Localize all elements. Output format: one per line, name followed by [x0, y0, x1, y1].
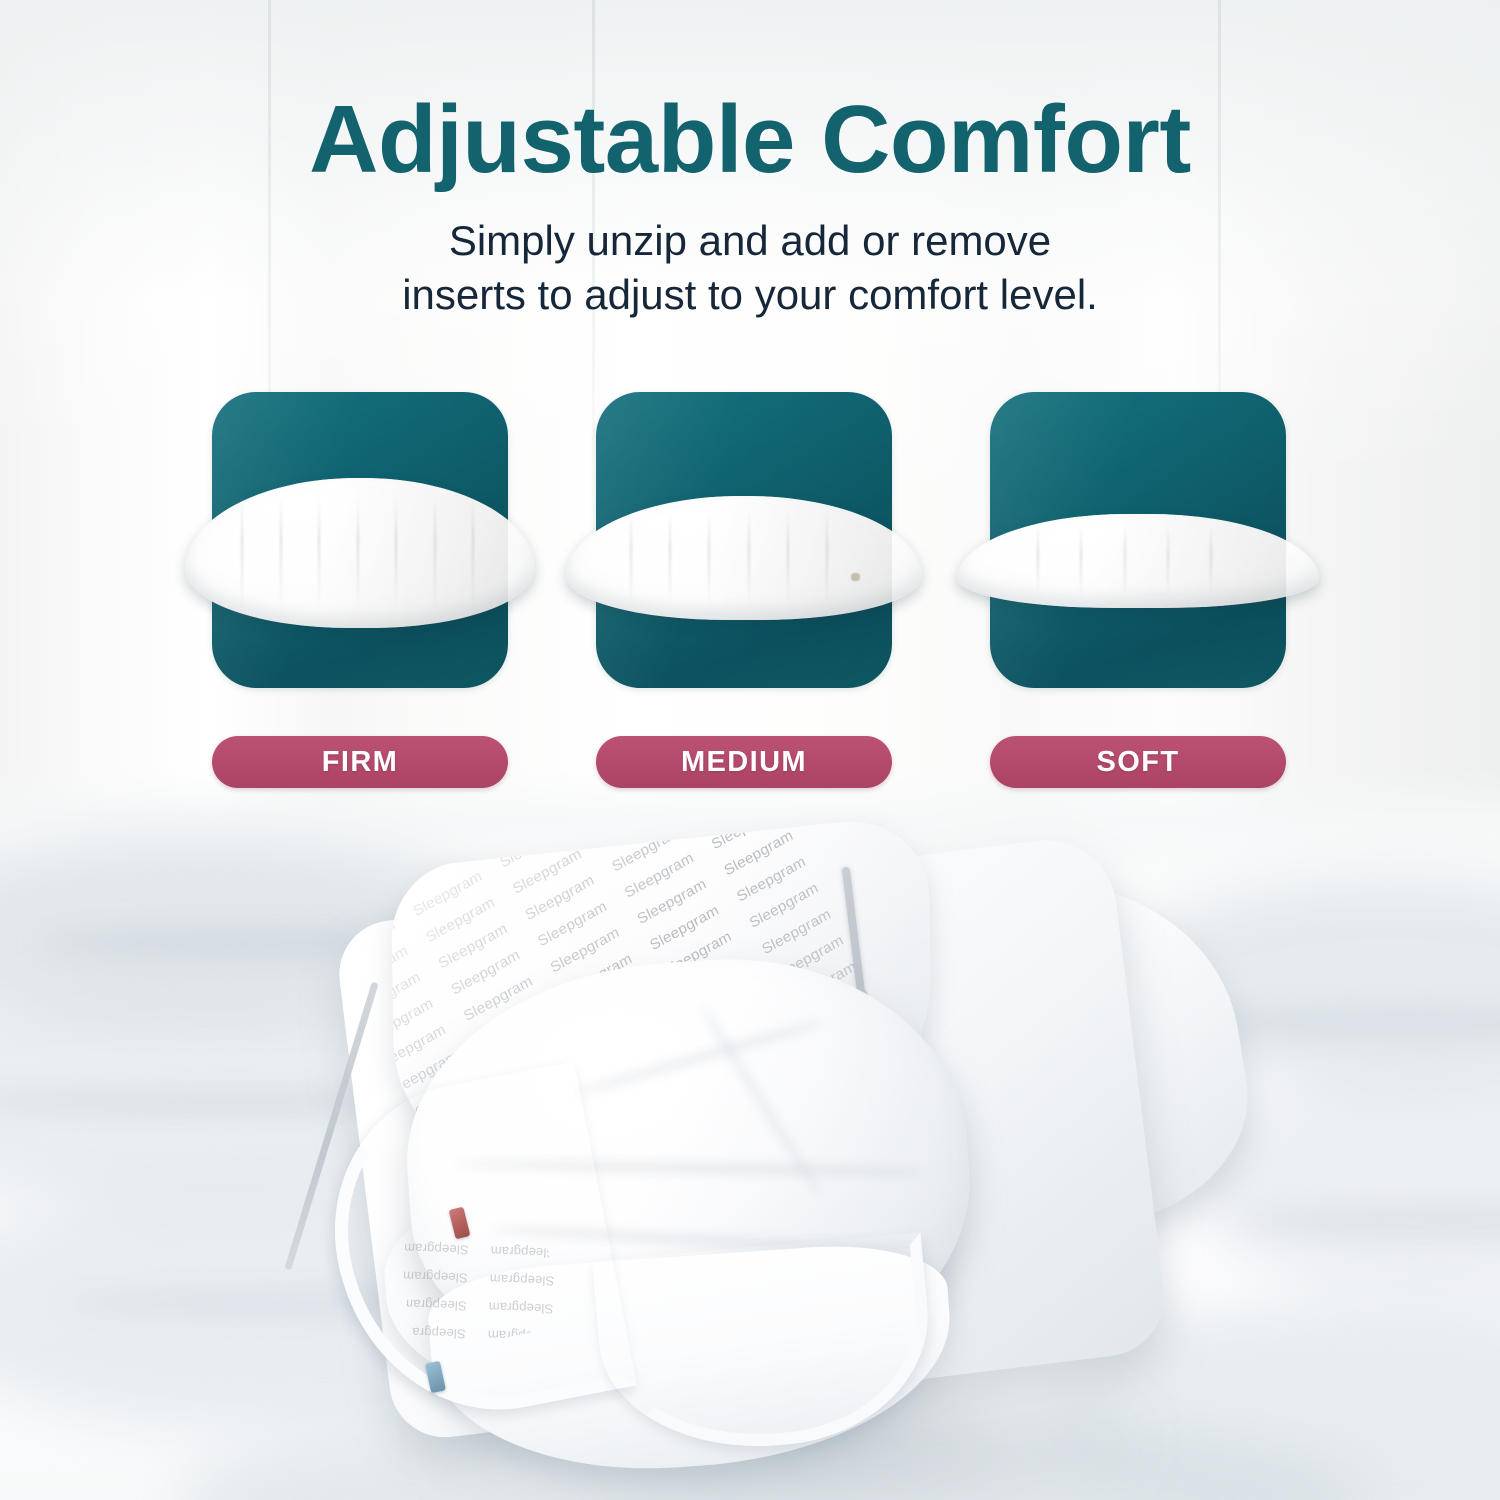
page-subtitle-line-2: inserts to adjust to your comfort level.	[0, 268, 1500, 322]
brand-text: Sleepgram	[489, 1271, 554, 1288]
brand-print-row: Sleepgram Sleepgram	[403, 1296, 553, 1316]
firmness-option-medium[interactable]: MEDIUM	[596, 392, 892, 688]
firmness-pill-soft[interactable]: SOFT	[990, 736, 1286, 788]
brand-text: Sleepgram	[391, 995, 436, 1047]
brand-text: Sleepgram	[391, 916, 398, 968]
firmness-label-soft: SOFT	[1097, 746, 1180, 779]
brand-text: Sleepgram	[497, 819, 571, 871]
brand-text: Sleepgram	[423, 894, 497, 946]
brand-text: Sleepgram	[391, 1021, 449, 1073]
brand-text: Sleepgram	[490, 1243, 555, 1260]
page-title: Adjustable Comfort	[0, 92, 1500, 188]
page-subtitle: Simply unzip and add or remove inserts t…	[0, 214, 1500, 322]
firmness-options-row: FIRM MEDIUM	[0, 392, 1500, 792]
brand-text: Sleepgram	[609, 823, 683, 875]
brand-print-row: Sleepgram Sleepgram	[404, 1268, 554, 1288]
brand-text: Sleepgram	[402, 1296, 467, 1313]
brand-text: Sleepgram	[510, 846, 584, 898]
brand-text: Sleepgram	[410, 868, 484, 920]
brand-text: Sleepgram	[391, 969, 423, 1021]
swatch-card-firm	[212, 392, 508, 688]
pillow-icon	[957, 514, 1319, 608]
brand-text: Sleepgram	[759, 906, 833, 958]
brand-text: Sleepgram	[523, 872, 597, 924]
brand-text: Sleepgram	[403, 1268, 468, 1285]
firmness-pill-medium[interactable]: MEDIUM	[596, 736, 892, 788]
swatch-card-medium	[596, 392, 892, 688]
brand-text: Sleepgram	[548, 924, 622, 976]
firmness-pill-firm[interactable]: FIRM	[212, 736, 508, 788]
pillow-icon	[185, 478, 535, 628]
swatch-card-soft	[990, 392, 1286, 688]
product-photo: Sleepgram Sleepgram Sleepgram Sleepgram …	[300, 826, 1260, 1500]
brand-text: Sleepgram	[647, 902, 721, 954]
brand-text: Sleepgram	[436, 920, 510, 972]
firmness-label-firm: FIRM	[322, 746, 398, 779]
fiber-tuft	[851, 573, 860, 581]
brand-text: Sleepgram	[404, 1240, 469, 1257]
brand-text: Sleepgram	[448, 947, 522, 999]
brand-text: Sleepgram	[488, 1299, 553, 1316]
brand-text: Sleepgram	[721, 827, 795, 879]
brand-text: Sleepgram	[535, 898, 609, 950]
firmness-option-firm[interactable]: FIRM	[212, 392, 508, 688]
brand-text: Sleepgram	[747, 880, 821, 932]
brand-text: Sleepgram	[635, 876, 709, 928]
firmness-label-medium: MEDIUM	[681, 746, 807, 779]
brand-print-row: Sleepgram Sleepgram	[405, 1240, 555, 1260]
brand-text: Sleepgram	[734, 853, 808, 905]
brand-text: Sleepgram	[391, 943, 411, 995]
brand-text: Sleepgram	[622, 850, 696, 902]
firmness-option-soft[interactable]: SOFT	[990, 392, 1286, 688]
header-block: Adjustable Comfort Simply unzip and add …	[0, 92, 1500, 322]
page-subtitle-line-1: Simply unzip and add or remove	[0, 214, 1500, 268]
infographic-canvas: Adjustable Comfort Simply unzip and add …	[0, 0, 1500, 1500]
pillow-icon	[566, 496, 922, 620]
